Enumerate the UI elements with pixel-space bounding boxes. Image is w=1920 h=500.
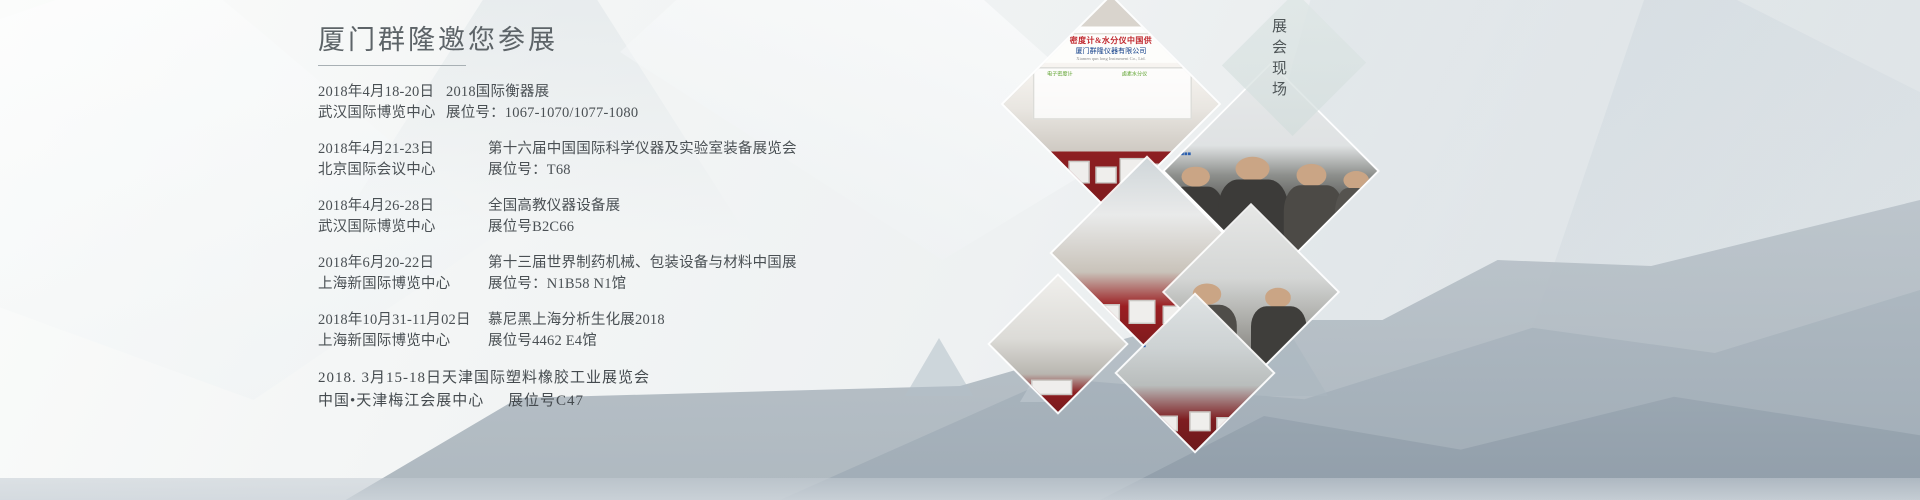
- booth-banner-title: 密度计&水分仪中国供: [1070, 35, 1152, 46]
- exhibition-booth: 展位号B2C66: [488, 217, 574, 238]
- exhibition-date: 2018年6月20-22日: [318, 253, 488, 274]
- page-title: 厦门群隆邀您参展: [318, 18, 1078, 57]
- exhibition-booth: 展位号：T68: [488, 160, 571, 181]
- exhibition-booth: 展位号C47: [508, 390, 584, 413]
- panel-left-label: 电子密度计: [1047, 72, 1073, 79]
- exhibition-venue: 北京国际会议中心: [318, 160, 488, 181]
- exhibition-entry: 2018年4月21-23日 第十六届中国国际科学仪器及实验室装备展览会 北京国际…: [318, 139, 1078, 181]
- background-band-right-2: [1460, 0, 1920, 500]
- exhibition-line-venue: 北京国际会议中心 展位号：T68: [318, 160, 1078, 181]
- photo-backdrop-text: ■■■■: [1177, 150, 1191, 157]
- panel-right-label: 卤素水分仪: [1122, 72, 1148, 79]
- exhibition-name: 第十六届中国国际科学仪器及实验室装备展览会: [488, 139, 797, 160]
- exhibition-entry: 2018年4月26-28日 全国高教仪器设备展 武汉国际博览中心 展位号B2C6…: [318, 196, 1078, 238]
- exhibition-line-date: 2018年4月21-23日 第十六届中国国际科学仪器及实验室装备展览会: [318, 139, 1078, 160]
- exhibition-name: 全国高教仪器设备展: [488, 196, 620, 217]
- booth-banner-company: 厦门群隆仪器有限公司: [1075, 46, 1146, 56]
- exhibition-line-venue: 武汉国际博览中心 展位号B2C66: [318, 217, 1078, 238]
- title-underline: [318, 65, 466, 66]
- exhibition-line-date: 2018. 3月15-18日天津国际塑料橡胶工业展览会: [318, 367, 1078, 390]
- exhibition-line-venue: 武汉国际博览中心 展位号：1067-1070/1077-1080: [318, 103, 1078, 124]
- exhibition-booth: 展位号4462 E4馆: [488, 331, 597, 352]
- exhibition-booth: 展位号：1067-1070/1077-1080: [446, 103, 638, 124]
- exhibition-name: 第十三届世界制药机械、包装设备与材料中国展: [488, 253, 797, 274]
- exhibition-venue: 中国•天津梅江会展中心: [318, 390, 508, 413]
- booth-banner: 密度计&水分仪中国供 厦门群隆仪器有限公司 Xiamen qun long In…: [1025, 33, 1198, 62]
- exhibition-date: 2018. 3月15-18日天津国际塑料橡胶工业展览会: [318, 367, 650, 390]
- exhibition-entry: 2018年6月20-22日 第十三届世界制药机械、包装设备与材料中国展 上海新国…: [318, 253, 1078, 295]
- booth-equipment-row: [1117, 407, 1273, 430]
- exhibition-name: 2018国际衡器展: [446, 82, 549, 103]
- exhibition-venue: 武汉国际博览中心: [318, 103, 446, 124]
- exhibition-line-venue: 上海新国际博览中心 展位号4462 E4馆: [318, 331, 1078, 352]
- exhibition-entry: 2018年10月31-11月02日 慕尼黑上海分析生化展2018 上海新国际博览…: [318, 310, 1078, 352]
- exhibition-date: 2018年4月21-23日: [318, 139, 488, 160]
- exhibition-line-date: 2018年4月18-20日 2018国际衡器展: [318, 82, 1078, 103]
- collage-caption-text: 展会现场: [1268, 18, 1289, 102]
- exhibition-line-date: 2018年4月26-28日 全国高教仪器设备展: [318, 196, 1078, 217]
- exhibition-line-date: 2018年10月31-11月02日 慕尼黑上海分析生化展2018: [318, 310, 1078, 331]
- exhibition-banner: 厦门群隆邀您参展 2018年4月18-20日 2018国际衡器展 武汉国际博览中…: [0, 0, 1920, 500]
- exhibition-venue: 上海新国际博览中心: [318, 331, 488, 352]
- exhibition-date: 2018年10月31-11月02日: [318, 310, 488, 331]
- exhibition-line-date: 2018年6月20-22日 第十三届世界制药机械、包装设备与材料中国展: [318, 253, 1078, 274]
- exhibition-venue: 上海新国际博览中心: [318, 274, 488, 295]
- exhibition-line-venue: 中国•天津梅江会展中心 展位号C47: [318, 390, 1078, 413]
- exhibition-schedule-panel: 厦门群隆邀您参展 2018年4月18-20日 2018国际衡器展 武汉国际博览中…: [318, 18, 1078, 428]
- exhibition-booth: 展位号：N1B58 N1馆: [488, 274, 626, 295]
- bottom-strip: [0, 478, 1920, 500]
- exhibition-date: 2018年4月26-28日: [318, 196, 488, 217]
- booth-banner-company-en: Xiamen qun long Instrument Co., Ltd.: [1076, 56, 1145, 62]
- exhibition-entry: 2018年4月18-20日 2018国际衡器展 武汉国际博览中心 展位号：106…: [318, 82, 1078, 124]
- booth-product-panel: 电子密度计 卤素水分仪: [1033, 67, 1191, 119]
- exhibition-entry: 2018. 3月15-18日天津国际塑料橡胶工业展览会 中国•天津梅江会展中心 …: [318, 367, 1078, 413]
- exhibition-name: 慕尼黑上海分析生化展2018: [488, 310, 665, 331]
- exhibition-date: 2018年4月18-20日: [318, 82, 446, 103]
- exhibition-line-venue: 上海新国际博览中心 展位号：N1B58 N1馆: [318, 274, 1078, 295]
- exhibition-venue: 武汉国际博览中心: [318, 217, 488, 238]
